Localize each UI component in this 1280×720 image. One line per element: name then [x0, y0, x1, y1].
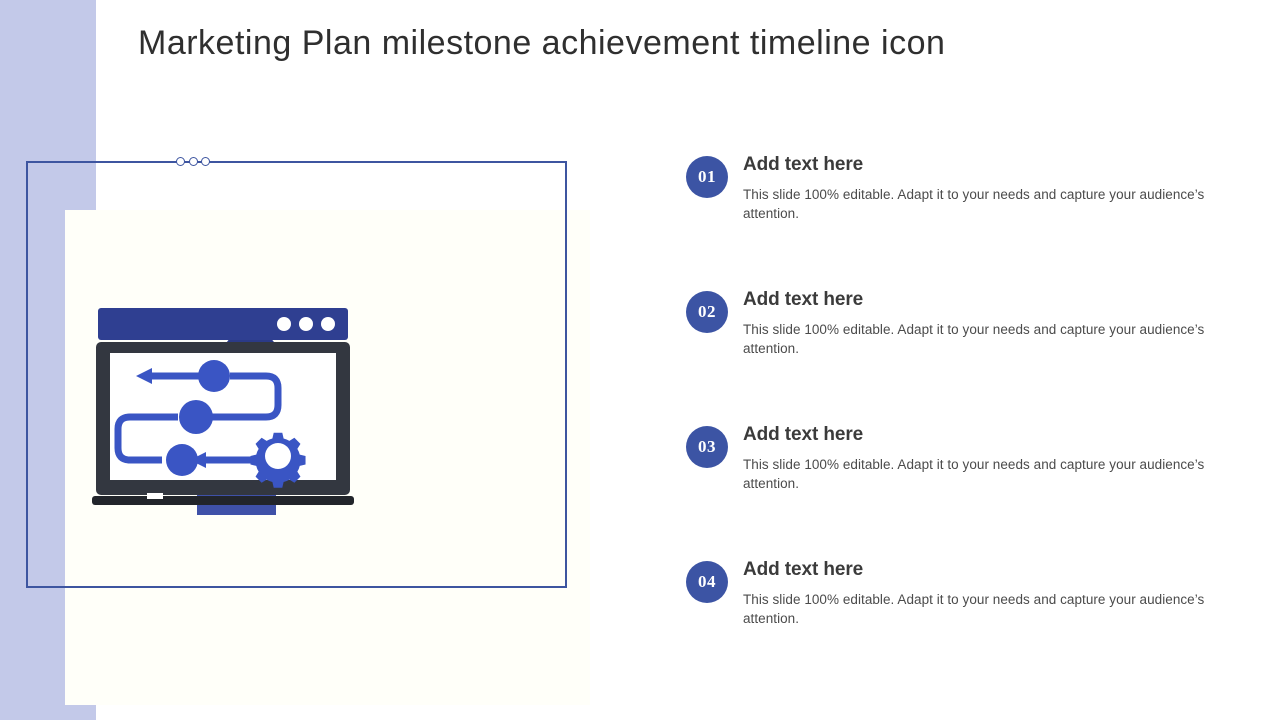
list-item-description: This slide 100% editable. Adapt it to yo… — [743, 590, 1213, 628]
window-dot-2 — [299, 317, 313, 331]
status-badge: 04 — [686, 561, 728, 603]
status-badge: 01 — [686, 156, 728, 198]
list-item-heading: Add text here — [743, 152, 1213, 178]
monitor-stand-notch — [147, 493, 163, 499]
flow-node-2 — [179, 400, 213, 434]
list-item-description: This slide 100% editable. Adapt it to yo… — [743, 185, 1213, 223]
flow-node-1 — [198, 360, 230, 392]
strategy-illustration — [90, 300, 500, 530]
slide-canvas: Marketing Plan milestone achievement tim… — [0, 0, 1280, 720]
status-badge: 03 — [686, 426, 728, 468]
illustration-region — [0, 140, 620, 660]
list-item-body: Add text here This slide 100% editable. … — [743, 152, 1213, 223]
list-item[interactable]: 02 Add text here This slide 100% editabl… — [686, 287, 1226, 422]
milestone-list: 01 Add text here This slide 100% editabl… — [686, 152, 1226, 692]
list-item[interactable]: 01 Add text here This slide 100% editabl… — [686, 152, 1226, 287]
window-dot-3 — [321, 317, 335, 331]
window-dot-1 — [277, 317, 291, 331]
list-item-body: Add text here This slide 100% editable. … — [743, 557, 1213, 628]
frame-dot-2 — [189, 157, 198, 166]
list-item-heading: Add text here — [743, 557, 1213, 583]
page-title: Marketing Plan milestone achievement tim… — [138, 24, 1198, 63]
flow-node-3 — [166, 444, 198, 476]
monitor-stand — [92, 496, 354, 505]
list-item[interactable]: 04 Add text here This slide 100% editabl… — [686, 557, 1226, 692]
gear-icon — [250, 433, 305, 488]
list-item-body: Add text here This slide 100% editable. … — [743, 422, 1213, 493]
frame-dot-decoration — [176, 155, 210, 167]
status-badge: 02 — [686, 291, 728, 333]
list-item-heading: Add text here — [743, 287, 1213, 313]
list-item-body: Add text here This slide 100% editable. … — [743, 287, 1213, 358]
list-item-heading: Add text here — [743, 422, 1213, 448]
list-item-description: This slide 100% editable. Adapt it to yo… — [743, 455, 1213, 493]
frame-dot-1 — [176, 157, 185, 166]
browser-window-illustration — [92, 308, 354, 505]
frame-dot-3 — [201, 157, 210, 166]
list-item-description: This slide 100% editable. Adapt it to yo… — [743, 320, 1213, 358]
list-item[interactable]: 03 Add text here This slide 100% editabl… — [686, 422, 1226, 557]
